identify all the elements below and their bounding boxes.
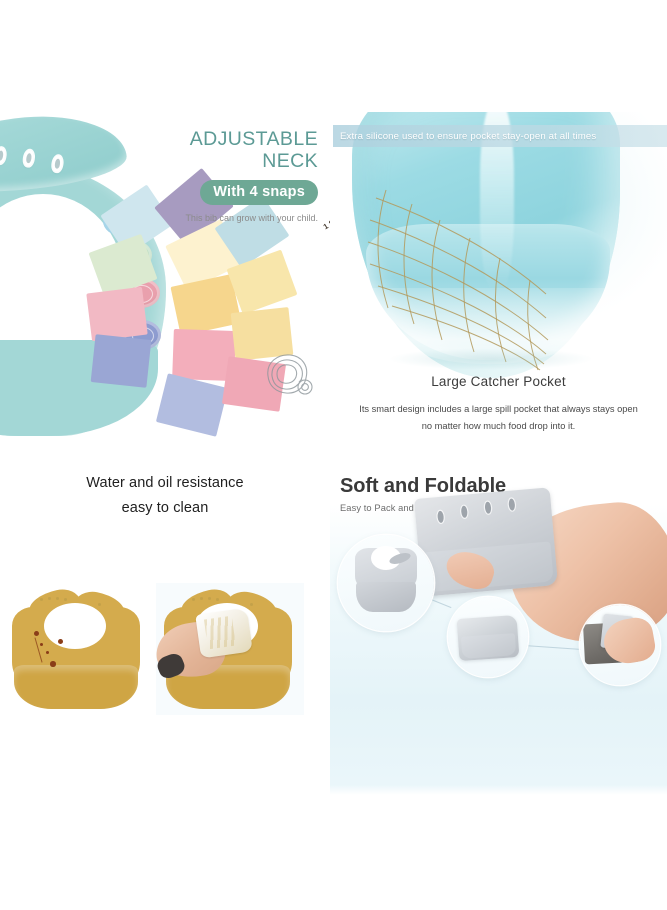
photo-stained-bib	[4, 583, 152, 715]
pocket-photo: Extra silicone used to ensure pocket sta…	[330, 112, 667, 380]
food-stain	[50, 661, 56, 667]
easy-clean-copy: Water and oil resistance easy to clean	[0, 475, 330, 516]
food-stain	[58, 639, 63, 644]
snap-hole-icon	[23, 150, 34, 167]
grey-bib-rolled	[457, 615, 520, 661]
infographic-canvas: 1 Stalls 2 Stalls 3 Stalls 4 Stalls ADJU…	[0, 0, 667, 910]
fan-segment-inner	[91, 334, 152, 388]
snap-hole-icon	[500, 642, 505, 650]
fan-segment-inner	[86, 287, 147, 341]
snap-hole-icon	[52, 155, 63, 172]
panel-adjustable-neck: 1 Stalls 2 Stalls 3 Stalls 4 Stalls ADJU…	[0, 112, 330, 457]
pocket-description: Its smart design includes a large spill …	[330, 401, 667, 435]
snap-hole-icon	[485, 501, 492, 513]
inset-bib-rolled	[448, 597, 528, 677]
snap-hole-icon	[490, 642, 495, 650]
panel-easy-clean: Water and oil resistance easy to clean	[0, 457, 330, 795]
fan-label-1: 1 Stalls	[322, 210, 330, 232]
snap-hole-icon	[470, 642, 475, 650]
snap-hole-icon	[508, 498, 515, 510]
panel-soft-foldable: Soft and Foldable Easy to Pack and Carry	[330, 457, 667, 795]
heading-line-2: NECK	[166, 150, 318, 172]
bib-clasp-sketch-icon	[258, 350, 320, 402]
gold-mesh-grid-overlay	[330, 112, 667, 380]
pocket-description-line-2: no matter how much food drop into it.	[334, 418, 663, 435]
food-stain	[34, 631, 39, 636]
adjustable-neck-subtext: This bib can grow with your child.	[166, 212, 318, 225]
pocket-caption-block: Large Catcher Pocket Its smart design in…	[330, 374, 667, 435]
snap-hole-icon	[437, 511, 444, 523]
inset-bib-packed	[580, 605, 660, 685]
grey-bib-unfolded	[355, 548, 417, 614]
panel-catcher-pocket: Extra silicone used to ensure pocket sta…	[330, 112, 667, 457]
easy-clean-line-2: easy to clean	[0, 500, 330, 516]
adjustable-neck-copy: ADJUSTABLE NECK With 4 snaps This bib ca…	[166, 128, 318, 225]
inset-bib-unfolded	[338, 535, 434, 631]
pocket-banner: Extra silicone used to ensure pocket sta…	[333, 125, 667, 147]
easy-clean-line-1: Water and oil resistance	[0, 475, 330, 491]
heading-line-1: ADJUSTABLE	[166, 128, 318, 150]
inset-connector-line	[431, 599, 452, 608]
pocket-title: Large Catcher Pocket	[330, 374, 667, 389]
pocket-description-line-1: Its smart design includes a large spill …	[334, 401, 663, 418]
bib-pocket	[356, 582, 416, 612]
fan-segment-mid	[156, 373, 228, 437]
inset-connector-line	[524, 645, 582, 650]
cleaning-tissue	[195, 608, 253, 659]
snap-hole-icon	[0, 147, 6, 164]
snap-hole-icon	[461, 506, 468, 518]
mustard-bib	[12, 589, 140, 711]
photo-wiping-bib	[156, 583, 304, 715]
bib-pocket	[14, 665, 138, 709]
mustard-bib	[164, 589, 292, 711]
pocket-banner-text: Extra silicone used to ensure pocket sta…	[333, 131, 596, 142]
snap-hole-icon	[480, 641, 485, 649]
food-stain	[46, 651, 49, 654]
with-4-snaps-badge: With 4 snaps	[200, 180, 318, 205]
pocket-drop-shadow	[388, 348, 594, 370]
